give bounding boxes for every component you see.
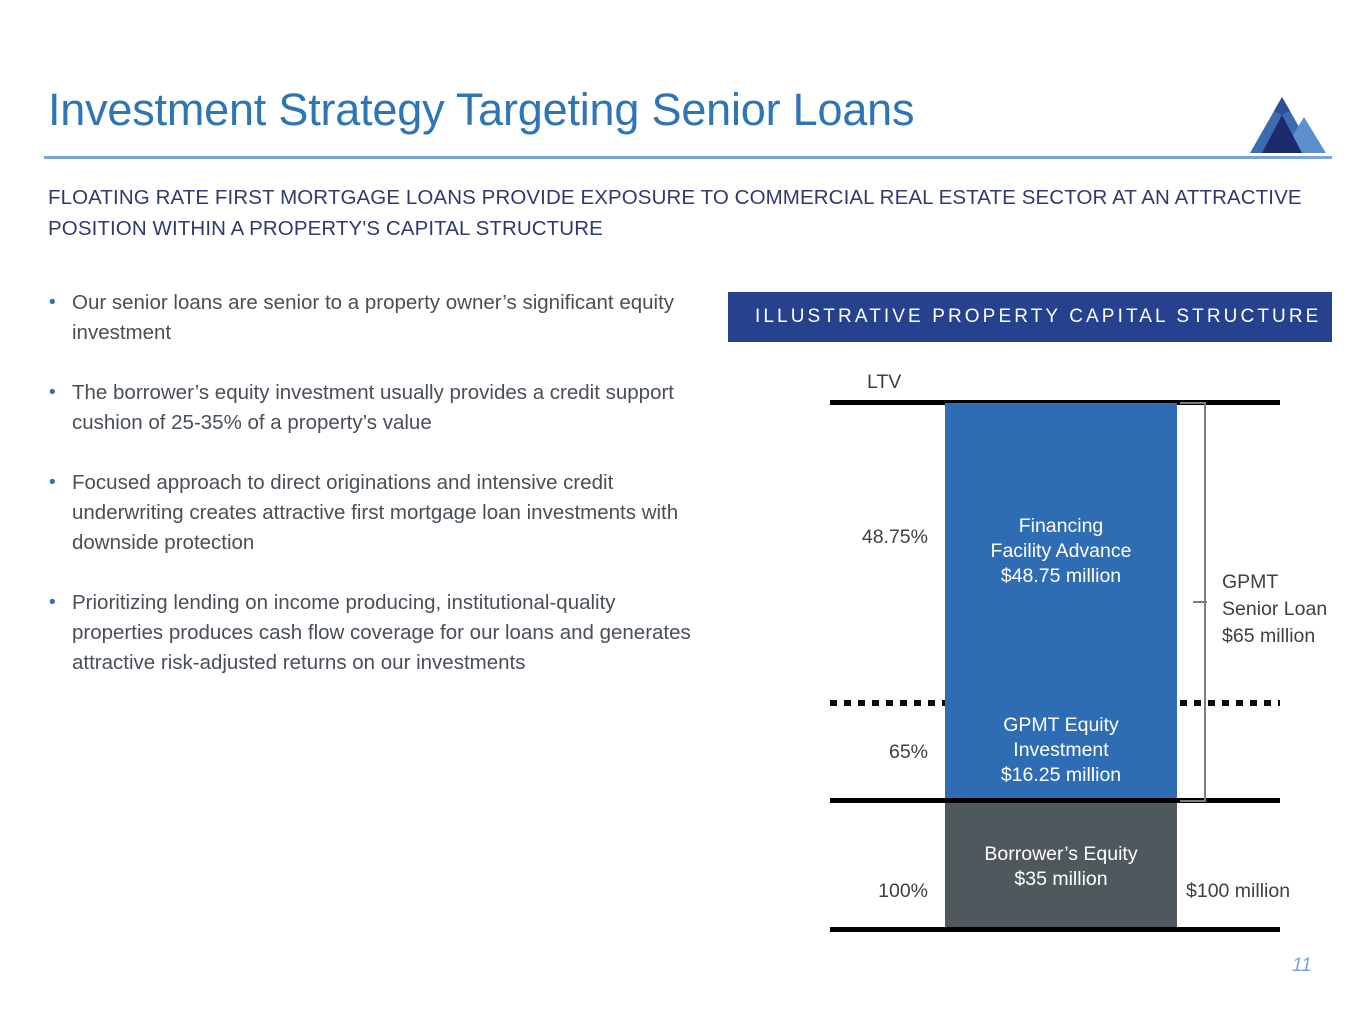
- chart-axis-header: LTV: [867, 371, 901, 394]
- bullet-dot-icon: •: [49, 588, 56, 618]
- capital-structure-chart: LTV Financing Facility Advance $48.75 mi…: [728, 360, 1338, 940]
- chart-title-banner: ILLUSTRATIVE PROPERTY CAPITAL STRUCTURE: [728, 292, 1332, 342]
- bar-label-line2: Facility Advance: [991, 539, 1132, 564]
- bar-label-line1: Financing: [1019, 514, 1104, 539]
- total-value-annotation: $100 million: [1186, 880, 1290, 903]
- bullet-list: • Our senior loans are senior to a prope…: [46, 288, 706, 708]
- bar-label-line3: $16.25 million: [1001, 763, 1121, 788]
- annotation-line1: GPMT: [1222, 569, 1327, 596]
- senior-loan-bracket-tick: [1193, 601, 1207, 603]
- annotation-line3: $65 million: [1222, 623, 1327, 650]
- bar-financing-facility-advance: Financing Facility Advance $48.75 millio…: [945, 403, 1177, 700]
- bullet-text: Our senior loans are senior to a propert…: [72, 291, 674, 344]
- list-item: • Our senior loans are senior to a prope…: [46, 288, 706, 348]
- tick-label-4875: 48.75%: [828, 526, 928, 549]
- senior-loan-annotation: GPMT Senior Loan $65 million: [1222, 569, 1327, 650]
- slide-subtitle: FLOATING RATE FIRST MORTGAGE LOANS PROVI…: [48, 182, 1318, 244]
- bullet-text: Focused approach to direct originations …: [72, 471, 678, 554]
- bar-label-line1: GPMT Equity: [1003, 713, 1119, 738]
- annotation-line2: Senior Loan: [1222, 596, 1327, 623]
- bar-gpmt-equity-investment: GPMT Equity Investment $16.25 million: [945, 700, 1177, 800]
- title-divider: [44, 156, 1332, 159]
- bullet-dot-icon: •: [49, 378, 56, 408]
- page-number: 11: [1292, 955, 1312, 977]
- list-item: • Focused approach to direct origination…: [46, 468, 706, 558]
- bullet-text: The borrower’s equity investment usually…: [72, 381, 674, 434]
- chart-rule-bottom: [830, 927, 1280, 932]
- bar-label-line3: $48.75 million: [1001, 564, 1121, 589]
- bullet-dot-icon: •: [49, 468, 56, 498]
- mountain-logo: [1232, 85, 1336, 153]
- bullet-text: Prioritizing lending on income producing…: [72, 591, 691, 674]
- tick-label-100: 100%: [828, 880, 928, 903]
- page-title: Investment Strategy Targeting Senior Loa…: [48, 84, 914, 136]
- bar-label-line2: Investment: [1013, 738, 1108, 763]
- list-item: • Prioritizing lending on income produci…: [46, 588, 706, 678]
- tick-label-65: 65%: [828, 741, 928, 764]
- bar-label-line2: $35 million: [1014, 867, 1107, 892]
- bullet-dot-icon: •: [49, 288, 56, 318]
- bar-label-line1: Borrower’s Equity: [984, 842, 1137, 867]
- list-item: • The borrower’s equity investment usual…: [46, 378, 706, 438]
- bar-borrowers-equity: Borrower’s Equity $35 million: [945, 803, 1177, 930]
